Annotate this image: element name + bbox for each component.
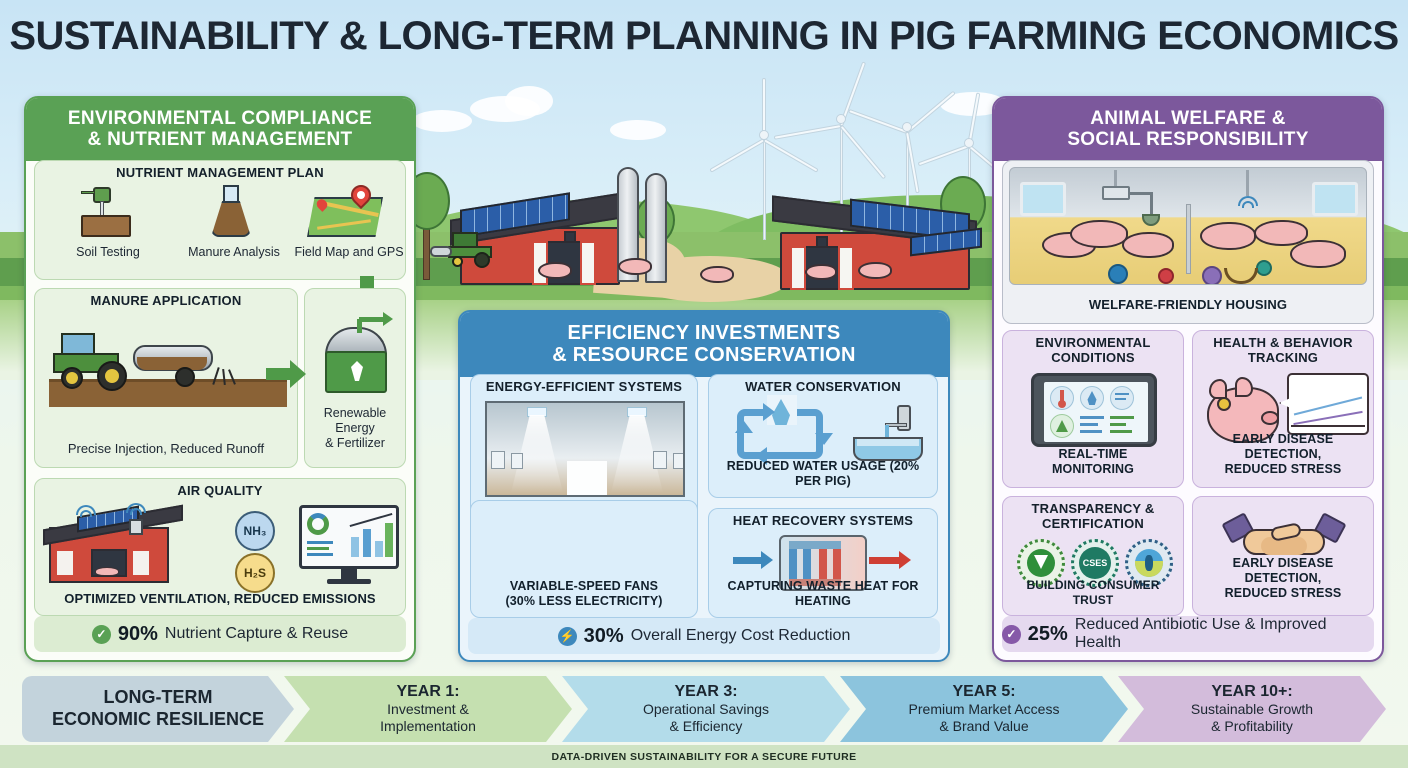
barn-interior-led-icon <box>485 401 685 497</box>
timeline-desc: Operational Savings & Efficiency <box>643 701 769 735</box>
stat-nutrient-capture: ✓ 90% Nutrient Capture & Reuse <box>34 616 406 652</box>
card-caption: REDUCED WATER USAGE (20% PER PIG) <box>713 459 933 489</box>
page-title: SUSTAINABILITY & LONG-TERM PLANNING IN P… <box>0 14 1408 59</box>
stat-label: Reduced Antibiotic Use & Improved Health <box>1075 616 1374 652</box>
card-caption: WELFARE-FRIENDLY HOUSING <box>1007 297 1369 313</box>
stat-label: Nutrient Capture & Reuse <box>165 625 348 643</box>
pig-icon <box>858 262 892 279</box>
water-trough-icon <box>849 405 927 467</box>
timeline-title: YEAR 3: <box>674 683 737 701</box>
item-label: Soil Testing <box>53 245 163 259</box>
panel-left-heading-line1: ENVIRONMENTAL COMPLIANCE <box>32 108 408 129</box>
card-air-quality[interactable]: AIR QUALITY NH₃ H₂S <box>34 478 406 616</box>
stat-value: 30% <box>584 625 624 648</box>
cloud-icon <box>412 110 472 132</box>
cloud-icon <box>610 120 666 140</box>
pig-icon <box>700 266 734 283</box>
card-title: AIR QUALITY <box>35 479 405 499</box>
panel-center-heading: EFFICIENCY INVESTMENTS & RESOURCE CONSER… <box>460 312 948 377</box>
card-caption: Renewable Energy & Fertilizer <box>309 406 401 451</box>
timeline-segment-year1[interactable]: YEAR 1: Investment & Implementation <box>284 676 572 742</box>
seal-label: CSES <box>1079 547 1111 579</box>
card-consumer-handshake[interactable]: EARLY DISEASE DETECTION, REDUCED STRESS <box>1192 496 1374 616</box>
card-title: HEAT RECOVERY SYSTEMS <box>709 509 937 529</box>
bolt-icon: ⚡ <box>558 627 577 646</box>
card-title: ENVIRONMENTAL CONDITIONS <box>1003 331 1183 366</box>
flow-arrow-head <box>290 360 306 388</box>
chip-h2s: H₂S <box>235 553 275 593</box>
panel-right-heading-line2: SOCIAL RESPONSIBILITY <box>1000 129 1376 150</box>
flask-icon <box>209 185 255 239</box>
card-caption: VARIABLE-SPEED FANS (30% LESS ELECTRICIT… <box>475 579 693 609</box>
pig-icon <box>805 264 837 280</box>
panel-animal-welfare: ANIMAL WELFARE & SOCIAL RESPONSIBILITY <box>992 96 1384 662</box>
card-welfare-housing[interactable]: WELFARE-FRIENDLY HOUSING <box>1002 160 1374 324</box>
check-icon: ✓ <box>92 625 111 644</box>
cloud-icon <box>505 86 553 116</box>
card-nutrient-management-plan[interactable]: NUTRIENT MANAGEMENT PLAN Soil Testing Ma… <box>34 160 406 280</box>
card-title: ENERGY-EFFICIENT SYSTEMS <box>471 375 697 395</box>
card-title: MANURE APPLICATION <box>35 289 297 309</box>
card-caption: REAL-TIME MONITORING <box>1007 447 1179 477</box>
stat-value: 90% <box>118 623 158 646</box>
timeline: LONG-TERM ECONOMIC RESILIENCE YEAR 1: In… <box>22 676 1386 742</box>
stat-energy-cost-reduction: ⚡ 30% Overall Energy Cost Reduction <box>468 618 940 654</box>
card-environmental-conditions[interactable]: ENVIRONMENTAL CONDITIONS REAL-TIME MONIT… <box>1002 330 1184 488</box>
card-title: NUTRIENT MANAGEMENT PLAN <box>35 161 405 181</box>
footer-text: DATA-DRIVEN SUSTAINABILITY FOR A SECURE … <box>551 751 856 763</box>
card-health-behavior-tracking[interactable]: HEALTH & BEHAVIOR TRACKING EARLY DISEASE… <box>1192 330 1374 488</box>
card-water-conservation[interactable]: WATER CONSERVATION REDUCED WATER USAGE (… <box>708 374 938 498</box>
card-transparency-certification[interactable]: TRANSPARENCY & CERTIFICATION CSES BUILDI… <box>1002 496 1184 616</box>
soil-probe-icon <box>79 187 135 239</box>
card-caption: EARLY DISEASE DETECTION, REDUCED STRESS <box>1197 432 1369 477</box>
flow-arrow-icon <box>266 368 292 380</box>
timeline-segment-year10[interactable]: YEAR 10+: Sustainable Growth & Profitabi… <box>1118 676 1386 742</box>
biogas-digester-icon <box>319 319 395 399</box>
tablet-sensors-icon <box>1031 373 1157 447</box>
card-title: TRANSPARENCY & CERTIFICATION <box>1003 497 1183 532</box>
card-title: WATER CONSERVATION <box>709 375 937 395</box>
card-caption: Precise Injection, Reduced Runoff <box>41 441 291 457</box>
panel-right-heading: ANIMAL WELFARE & SOCIAL RESPONSIBILITY <box>994 98 1382 161</box>
card-variable-speed-fans[interactable]: VARIABLE-SPEED FANS (30% LESS ELECTRICIT… <box>470 500 698 618</box>
footer-band: DATA-DRIVEN SUSTAINABILITY FOR A SECURE … <box>0 745 1408 768</box>
card-title: HEALTH & BEHAVIOR TRACKING <box>1193 331 1373 366</box>
panel-efficiency-investments: EFFICIENCY INVESTMENTS & RESOURCE CONSER… <box>458 310 950 662</box>
tractor-tanker-icon <box>49 315 287 407</box>
timeline-title: YEAR 1: <box>396 683 459 701</box>
panel-center-heading-line2: & RESOURCE CONSERVATION <box>466 344 942 366</box>
timeline-segment-year3[interactable]: YEAR 3: Operational Savings & Efficiency <box>562 676 850 742</box>
card-manure-application[interactable]: MANURE APPLICATION Precise Injection, Re… <box>34 288 298 468</box>
pig-icon <box>618 258 652 275</box>
panel-environmental-compliance: ENVIRONMENTAL COMPLIANCE & NUTRIENT MANA… <box>24 96 416 662</box>
tractor-icon <box>430 230 510 266</box>
card-caption: EARLY DISEASE DETECTION, REDUCED STRESS <box>1197 556 1369 601</box>
card-caption: OPTIMIZED VENTILATION, REDUCED EMISSIONS <box>41 591 399 607</box>
timeline-segment-year5[interactable]: YEAR 5: Premium Market Access & Brand Va… <box>840 676 1128 742</box>
item-label: Field Map and GPS <box>291 245 407 259</box>
panel-right-heading-line1: ANIMAL WELFARE & <box>1000 108 1376 129</box>
panel-left-heading-line2: & NUTRIENT MANAGEMENT <box>32 129 408 150</box>
timeline-title: YEAR 5: <box>952 683 1015 701</box>
timeline-segment-resilience[interactable]: LONG-TERM ECONOMIC RESILIENCE <box>22 676 294 742</box>
card-caption: BUILDING CONSUMER TRUST <box>1007 578 1179 607</box>
timeline-title: YEAR 10+: <box>1211 683 1292 701</box>
stat-value: 25% <box>1028 623 1068 646</box>
item-label: Manure Analysis <box>181 245 287 259</box>
barn-sensor-dashboard-icon <box>43 501 223 587</box>
panel-center-heading-line1: EFFICIENCY INVESTMENTS <box>466 322 942 344</box>
map-pin-icon <box>307 185 383 237</box>
stat-antibiotic-reduction: ✓ 25% Reduced Antibiotic Use & Improved … <box>1002 616 1374 652</box>
pig-icon <box>538 262 572 279</box>
analytics-monitor-icon <box>299 505 399 587</box>
panel-left-heading: ENVIRONMENTAL COMPLIANCE & NUTRIENT MANA… <box>26 98 414 161</box>
card-caption: CAPTURING WASTE HEAT FOR HEATING <box>713 579 933 609</box>
chip-nh3: NH₃ <box>235 511 275 551</box>
timeline-desc: Sustainable Growth & Profitability <box>1191 701 1313 735</box>
card-heat-recovery[interactable]: HEAT RECOVERY SYSTEMS CAPTURING WASTE HE… <box>708 508 938 618</box>
stat-label: Overall Energy Cost Reduction <box>631 627 851 645</box>
card-renewable-energy[interactable]: Renewable Energy & Fertilizer <box>304 288 406 468</box>
timeline-desc: Investment & Implementation <box>380 701 476 735</box>
timeline-label: LONG-TERM ECONOMIC RESILIENCE <box>52 687 264 730</box>
check-icon: ✓ <box>1002 625 1021 644</box>
timeline-desc: Premium Market Access & Brand Value <box>909 701 1060 735</box>
pig-pen-enrichment-icon <box>1009 167 1367 285</box>
